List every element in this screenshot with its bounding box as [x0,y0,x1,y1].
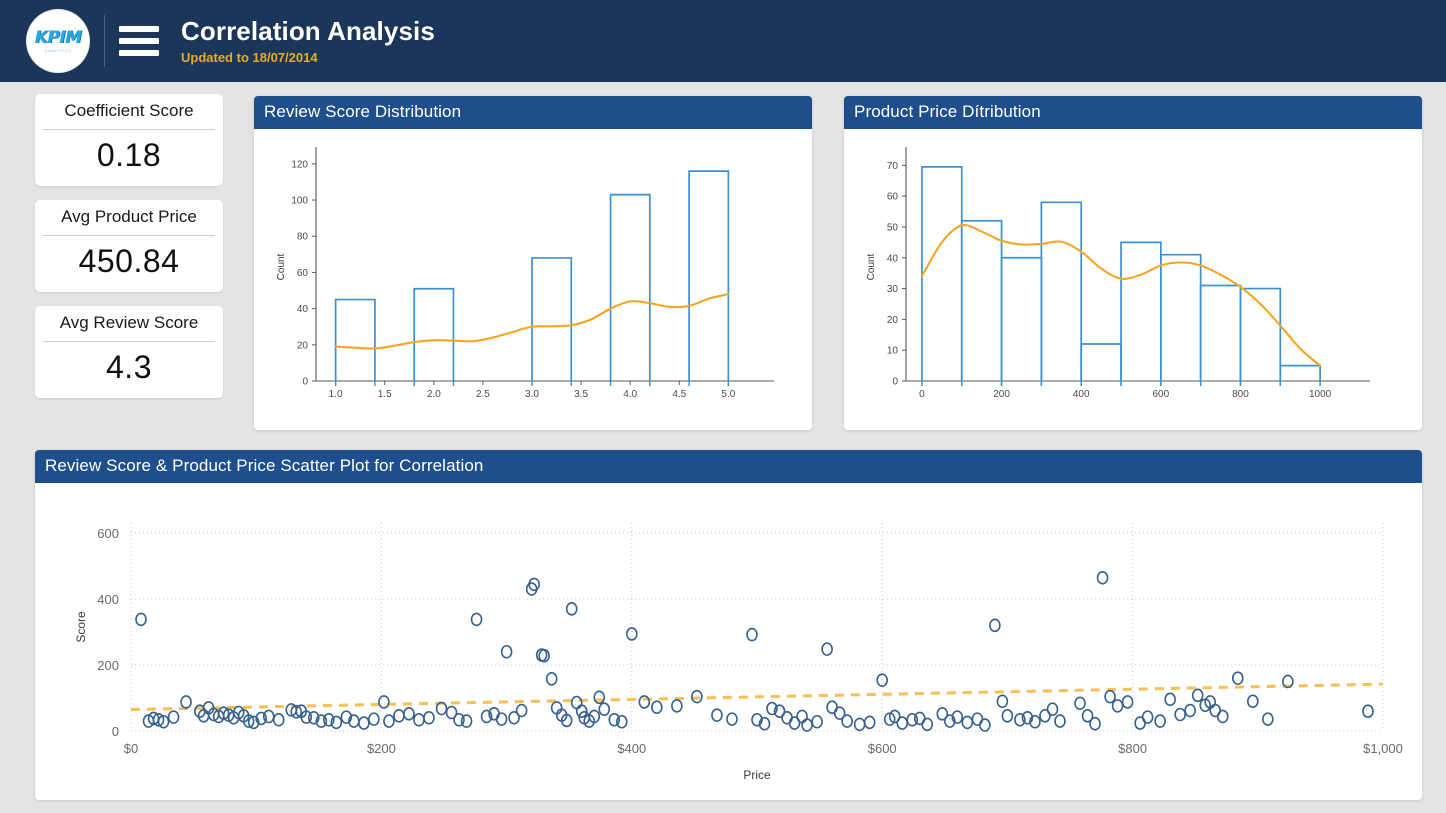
y-tick-label: 60 [887,192,899,203]
y-tick-label: 70 [887,161,899,172]
scatter-point [274,714,284,726]
y-tick-label: 50 [887,222,899,233]
x-axis-title: Price [743,768,771,782]
panel-title: Review Score Distribution [254,96,812,129]
page-title: Correlation Analysis [181,17,435,47]
scatter-point [369,713,379,725]
scatter-point [922,718,932,730]
header-titles: Correlation Analysis Updated to 18/07/20… [181,17,435,65]
y-tick-label: 10 [887,346,899,357]
x-tick-label: 3.0 [525,389,539,400]
scatter-point [1233,672,1243,684]
x-tick-label: 2.0 [427,389,441,400]
x-tick-label: $200 [367,741,396,756]
histogram-bar [962,221,1002,381]
correlation-trendline [131,684,1383,709]
x-tick-label: 0 [919,389,925,400]
scatter-point [1113,700,1123,712]
scatter-point [802,719,812,731]
panel-scatter-correlation: Review Score & Product Price Scatter Plo… [35,450,1422,800]
scatter-point [1175,708,1185,720]
y-tick-label: 40 [887,253,899,264]
scatter-point [1002,710,1012,722]
chart-product-price-distribution[interactable]: 01020304050607002004006008001000Count [844,129,1422,429]
y-tick-label: 120 [291,159,308,170]
chart-review-score-distribution[interactable]: 0204060801001201.01.52.02.53.03.54.04.55… [254,129,812,429]
kpi-card-avg-product-price[interactable]: Avg Product Price 450.84 [35,200,223,292]
scatter-point [1193,689,1203,701]
scatter-point [712,709,722,721]
panel-title: Review Score & Product Price Scatter Plo… [35,450,1422,483]
histogram-bar [1081,344,1121,381]
kpi-title: Coefficient Score [43,94,215,130]
y-tick-label: 0 [892,377,898,388]
panel-review-score-distribution: Review Score Distribution 02040608010012… [254,96,812,430]
scatter-point [1105,691,1115,703]
scatter-point [472,613,482,625]
app-header: KPIM ANALYTICS Correlation Analysis Upda… [0,0,1446,82]
y-axis-title: Score [74,611,88,643]
scatter-point [1155,715,1165,727]
x-tick-label: 2.5 [476,389,490,400]
scatter-point [1047,703,1057,715]
hamburger-menu-icon[interactable] [119,26,159,56]
histogram-bar [1161,255,1201,381]
scatter-point [379,696,389,708]
x-tick-label: 1.5 [378,389,392,400]
review-histogram-svg: 0204060801001201.01.52.02.53.03.54.04.55… [254,129,812,429]
kpi-card-list: Coefficient Score 0.18 Avg Product Price… [35,94,223,412]
scatter-point [980,719,990,731]
hamburger-bar-1 [119,26,159,32]
scatter-point [599,703,609,715]
x-tick-label: 4.5 [672,389,686,400]
scatter-point [497,713,507,725]
x-tick-label: $600 [868,741,897,756]
histogram-bar [922,167,962,381]
scatter-point [462,715,472,727]
scatter-point [1185,705,1195,717]
y-tick-label: 20 [297,340,309,351]
histogram-bar [1041,202,1081,381]
y-tick-label: 0 [112,724,119,739]
y-tick-label: 20 [887,315,899,326]
header-divider [104,15,105,67]
scatter-point [1090,718,1100,730]
x-tick-label: $1,000 [1363,741,1403,756]
scatter-point [822,643,832,655]
histogram-bar [611,195,650,381]
scatter-point [782,712,792,724]
dashboard-page: KPIM ANALYTICS Correlation Analysis Upda… [0,0,1446,813]
scatter-point [502,646,512,658]
x-tick-label: $400 [617,741,646,756]
kpi-value: 4.3 [35,342,223,398]
logo-subtext: ANALYTICS [35,48,82,53]
scatter-point [855,718,865,730]
chart-review-price-scatter[interactable]: 0200400600$0$200$400$600$800$1,000ScoreP… [35,483,1422,800]
brand-logo[interactable]: KPIM ANALYTICS [20,10,96,72]
histogram-bar [1201,285,1241,381]
scatter-point [359,717,369,729]
y-axis-title: Count [276,253,287,280]
scatter-point [424,712,434,724]
x-tick-label: $800 [1118,741,1147,756]
scatter-point [747,629,757,641]
scatter-point [181,696,191,708]
y-axis-title: Count [866,253,877,280]
scatter-point [1218,710,1228,722]
x-tick-label: 800 [1232,389,1249,400]
scatter-point [997,695,1007,707]
scatter-point [962,716,972,728]
kpi-card-coefficient-score[interactable]: Coefficient Score 0.18 [35,94,223,186]
histogram-bar [336,300,375,381]
histogram-bar [414,289,453,381]
x-tick-label: 200 [993,389,1010,400]
hamburger-bar-2 [119,38,159,44]
x-tick-label: 3.5 [574,389,588,400]
kpi-card-avg-review-score[interactable]: Avg Review Score 4.3 [35,306,223,398]
scatter-point [394,710,404,722]
y-tick-label: 600 [97,526,119,541]
panel-title: Product Price Dítribution [844,96,1422,129]
y-tick-label: 80 [297,232,309,243]
histogram-bar [689,171,728,381]
histogram-bar [1240,289,1280,381]
x-tick-label: 1.0 [329,389,343,400]
panel-product-price-distribution: Product Price Dítribution 01020304050607… [844,96,1422,430]
histogram-bar [1002,258,1042,381]
scatter-point [812,716,822,728]
scatter-point [627,628,637,640]
y-tick-label: 0 [302,377,308,388]
scatter-point [1263,713,1273,725]
y-tick-label: 400 [97,592,119,607]
scatter-point [1075,697,1085,709]
scatter-point [572,697,582,709]
scatter-point [1143,711,1153,723]
scatter-point [672,700,682,712]
scatter-point [1098,572,1108,584]
x-tick-label: 4.0 [623,389,637,400]
scatter-point [567,603,577,615]
histogram-bar [1280,366,1320,381]
scatter-point [414,714,424,726]
scatter-point [1055,715,1065,727]
x-tick-label: 1000 [1309,389,1332,400]
y-tick-label: 30 [887,284,899,295]
x-tick-label: $0 [124,741,138,756]
scatter-point [1363,705,1373,717]
price-histogram-svg: 01020304050607002004006008001000Count [844,129,1422,429]
x-tick-label: 600 [1152,389,1169,400]
kpi-title: Avg Review Score [43,306,215,342]
y-tick-label: 200 [97,658,119,673]
histogram-bar [532,258,571,381]
scatter-point [1165,693,1175,705]
scatter-point [384,715,394,727]
kpi-title: Avg Product Price [43,200,215,236]
scatter-point [169,711,179,723]
kpi-value: 450.84 [35,236,223,292]
histogram-bar [1121,242,1161,381]
kpi-value: 0.18 [35,130,223,186]
y-tick-label: 40 [297,304,309,315]
scatter-point [897,717,907,729]
scatter-point [727,713,737,725]
scatter-svg: 0200400600$0$200$400$600$800$1,000ScoreP… [35,483,1422,800]
hamburger-bar-3 [119,50,159,56]
x-tick-label: 400 [1073,389,1090,400]
scatter-point [1123,696,1133,708]
scatter-point [517,705,527,717]
scatter-point [136,613,146,625]
scatter-point [797,710,807,722]
scatter-point [1248,695,1258,707]
scatter-point [865,716,875,728]
scatter-point [842,715,852,727]
scatter-point [404,708,414,720]
scatter-point [990,619,1000,631]
y-tick-label: 60 [297,268,309,279]
logo-text: KPIM [35,30,82,47]
logo-circle: KPIM ANALYTICS [27,10,89,72]
last-updated-label: Updated to 18/07/2014 [181,50,435,65]
scatter-point [652,701,662,713]
x-tick-label: 5.0 [721,389,735,400]
y-tick-label: 100 [291,196,308,207]
scatter-point [547,673,557,685]
